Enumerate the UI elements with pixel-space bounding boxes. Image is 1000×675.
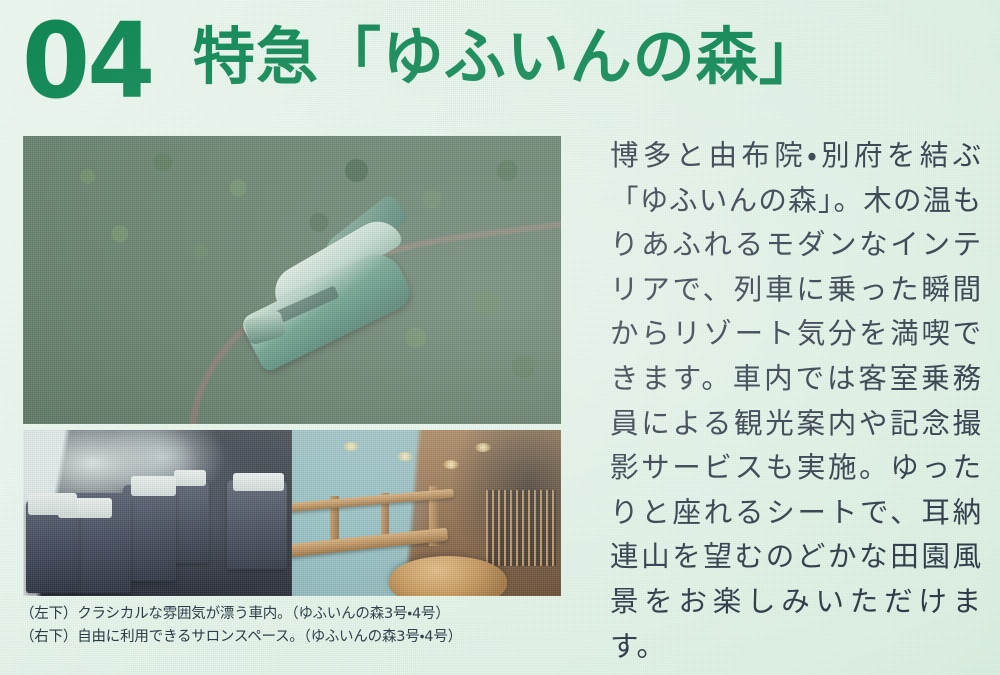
cabin-seat [227, 480, 286, 570]
photo-salon-space [292, 430, 561, 596]
seat-headrest-cover [233, 473, 284, 491]
seat-headrest-cover [174, 470, 206, 487]
ceiling-light [443, 460, 459, 469]
brochure-page: 04 特急「ゆふいんの森」 [0, 0, 1000, 675]
ceiling-light [397, 452, 413, 461]
photo-captions: （左下）クラシカルな雰囲気が漂う車内。（ゆふいんの森3号・4号） （右下）自由に… [20, 603, 565, 650]
seat-headrest-cover [131, 476, 177, 496]
photo-cabin-interior [23, 430, 292, 596]
ceiling-light [475, 443, 491, 452]
seat-headrest-cover [28, 493, 76, 515]
salon-lattice-partition [486, 490, 556, 566]
photo-aerial-train [23, 136, 561, 424]
photo-salon-space-image [292, 430, 561, 596]
wooden-counter [292, 528, 448, 558]
photo-aerial-train-image [23, 136, 561, 424]
caption-bottom-right: （右下）自由に利用できるサロンスペース。（ゆふいんの森3号・4号） [20, 626, 565, 649]
issue-number: 04 [22, 14, 152, 110]
body-paragraph: 博多と由布院・別府を結ぶ「ゆふいんの森」。木の温もりあふれるモダンなインテリアで… [610, 134, 982, 669]
page-title: 特急「ゆふいんの森」 [193, 26, 822, 88]
caption-bottom-left: （左下）クラシカルな雰囲気が漂う車内。（ゆふいんの森3号・4号） [20, 603, 565, 626]
cabin-seat [123, 485, 177, 581]
ceiling-light [343, 442, 359, 451]
photo-cabin-interior-image [23, 430, 292, 596]
body-copy: 博多と由布院・別府を結ぶ「ゆふいんの森」。木の温もりあふれるモダンなインテリアで… [610, 134, 982, 669]
